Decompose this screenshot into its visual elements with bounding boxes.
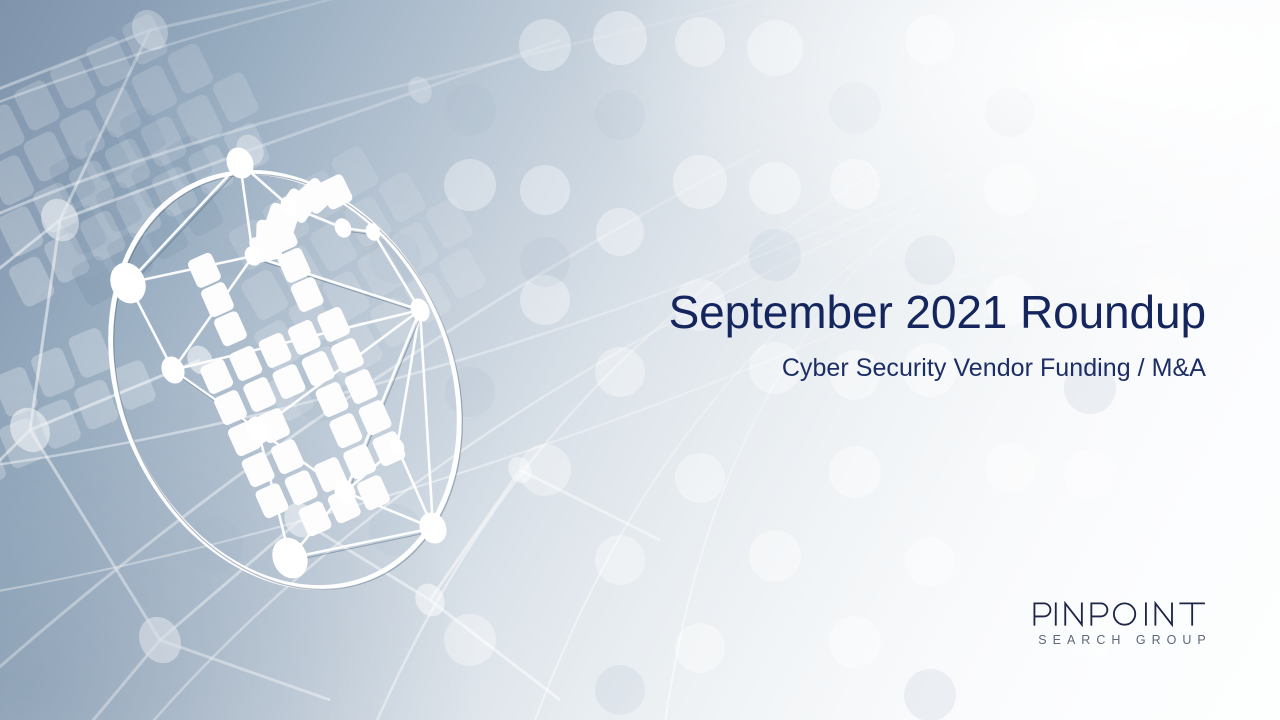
- pinpoint-logo: SEARCH GROUP: [1032, 601, 1212, 647]
- padlock-mosaic: [186, 156, 420, 551]
- pinpoint-wordmark: [1032, 601, 1210, 627]
- title-block: September 2021 Roundup Cyber Security Ve…: [566, 288, 1206, 383]
- pinpoint-tagline: SEARCH GROUP: [1032, 633, 1212, 647]
- globe-assembly: [47, 116, 526, 647]
- presentation-slide: September 2021 Roundup Cyber Security Ve…: [0, 0, 1280, 720]
- page-title: September 2021 Roundup: [566, 288, 1206, 337]
- page-subtitle: Cyber Security Vendor Funding / M&A: [566, 354, 1206, 383]
